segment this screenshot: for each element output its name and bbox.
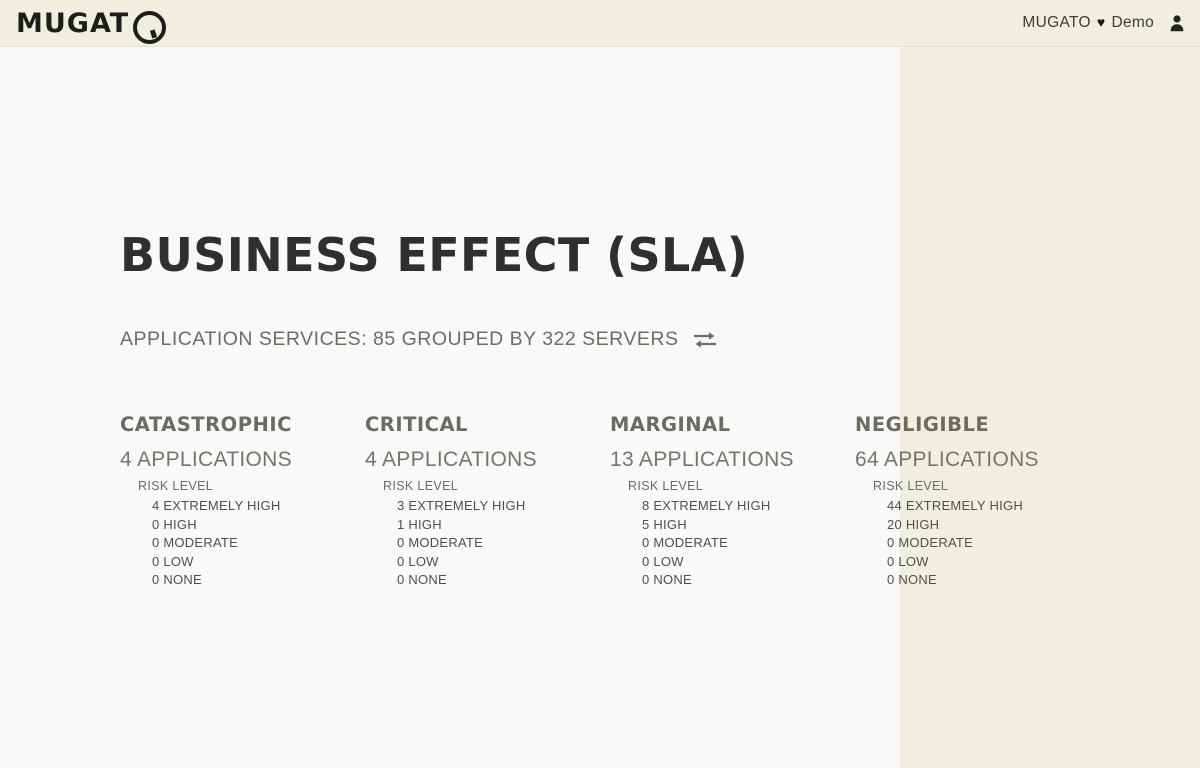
swap-arrows-icon[interactable] xyxy=(693,330,717,350)
risk-level-label: RISK LEVEL xyxy=(138,479,365,493)
risk-level-label: RISK LEVEL xyxy=(628,479,855,493)
risk-item-moderate[interactable]: 0 MODERATE xyxy=(642,534,855,553)
column-applications-count[interactable]: 4 APPLICATIONS xyxy=(365,448,610,472)
page-title: BUSINESS EFFECT (SLA) xyxy=(120,228,748,282)
column-title: CATASTROPHIC xyxy=(120,413,365,436)
business-effect-columns: CATASTROPHIC 4 APPLICATIONS RISK LEVEL 4… xyxy=(120,413,1120,590)
risk-level-list: 8 EXTREMELY HIGH 5 HIGH 0 MODERATE 0 LOW… xyxy=(642,497,855,590)
account-tenant-label: Demo xyxy=(1111,14,1154,32)
top-navigation-bar: MUGAT MUGATO ♥ Demo xyxy=(0,0,1200,47)
account-org-label: MUGATO xyxy=(1022,14,1090,32)
risk-item-extremely-high[interactable]: 3 EXTREMELY HIGH xyxy=(397,497,610,516)
heart-icon: ♥ xyxy=(1097,15,1106,29)
effect-column-marginal: MARGINAL 13 APPLICATIONS RISK LEVEL 8 EX… xyxy=(610,413,855,590)
risk-item-low[interactable]: 0 LOW xyxy=(397,553,610,572)
main-content: BUSINESS EFFECT (SLA) APPLICATION SERVIC… xyxy=(0,47,1200,768)
user-avatar-icon[interactable] xyxy=(1168,14,1186,32)
risk-item-low[interactable]: 0 LOW xyxy=(887,553,1100,572)
column-applications-count[interactable]: 64 APPLICATIONS xyxy=(855,448,1100,472)
risk-item-none[interactable]: 0 NONE xyxy=(642,571,855,590)
risk-item-low[interactable]: 0 LOW xyxy=(642,553,855,572)
brand-logo-text: MUGAT xyxy=(16,10,129,37)
effect-column-critical: CRITICAL 4 APPLICATIONS RISK LEVEL 3 EXT… xyxy=(365,413,610,590)
logo-o-mark-icon xyxy=(133,11,158,36)
risk-item-moderate[interactable]: 0 MODERATE xyxy=(887,534,1100,553)
risk-level-list: 44 EXTREMELY HIGH 20 HIGH 0 MODERATE 0 L… xyxy=(887,497,1100,590)
risk-item-extremely-high[interactable]: 44 EXTREMELY HIGH xyxy=(887,497,1100,516)
risk-item-none[interactable]: 0 NONE xyxy=(397,571,610,590)
risk-item-high[interactable]: 1 HIGH xyxy=(397,516,610,535)
risk-item-extremely-high[interactable]: 8 EXTREMELY HIGH xyxy=(642,497,855,516)
risk-level-label: RISK LEVEL xyxy=(873,479,1100,493)
risk-level-label: RISK LEVEL xyxy=(383,479,610,493)
risk-item-moderate[interactable]: 0 MODERATE xyxy=(397,534,610,553)
risk-level-list: 4 EXTREMELY HIGH 0 HIGH 0 MODERATE 0 LOW… xyxy=(152,497,365,590)
risk-item-none[interactable]: 0 NONE xyxy=(887,571,1100,590)
risk-item-high[interactable]: 5 HIGH xyxy=(642,516,855,535)
effect-column-negligible: NEGLIGIBLE 64 APPLICATIONS RISK LEVEL 44… xyxy=(855,413,1100,590)
grouping-summary-text: APPLICATION SERVICES: 85 GROUPED BY 322 … xyxy=(120,328,679,351)
risk-item-high[interactable]: 20 HIGH xyxy=(887,516,1100,535)
grouping-summary-row: APPLICATION SERVICES: 85 GROUPED BY 322 … xyxy=(120,328,717,351)
topbar-right-group: MUGATO ♥ Demo xyxy=(1022,14,1186,32)
risk-item-high[interactable]: 0 HIGH xyxy=(152,516,365,535)
column-applications-count[interactable]: 4 APPLICATIONS xyxy=(120,448,365,472)
column-title: MARGINAL xyxy=(610,413,855,436)
effect-column-catastrophic: CATASTROPHIC 4 APPLICATIONS RISK LEVEL 4… xyxy=(120,413,365,590)
risk-item-low[interactable]: 0 LOW xyxy=(152,553,365,572)
column-applications-count[interactable]: 13 APPLICATIONS xyxy=(610,448,855,472)
risk-level-list: 3 EXTREMELY HIGH 1 HIGH 0 MODERATE 0 LOW… xyxy=(397,497,610,590)
risk-item-moderate[interactable]: 0 MODERATE xyxy=(152,534,365,553)
column-title: CRITICAL xyxy=(365,413,610,436)
risk-item-extremely-high[interactable]: 4 EXTREMELY HIGH xyxy=(152,497,365,516)
column-title: NEGLIGIBLE xyxy=(855,413,1100,436)
brand-logo[interactable]: MUGAT xyxy=(16,10,158,37)
account-menu[interactable]: MUGATO ♥ Demo xyxy=(1022,14,1154,32)
risk-item-none[interactable]: 0 NONE xyxy=(152,571,365,590)
